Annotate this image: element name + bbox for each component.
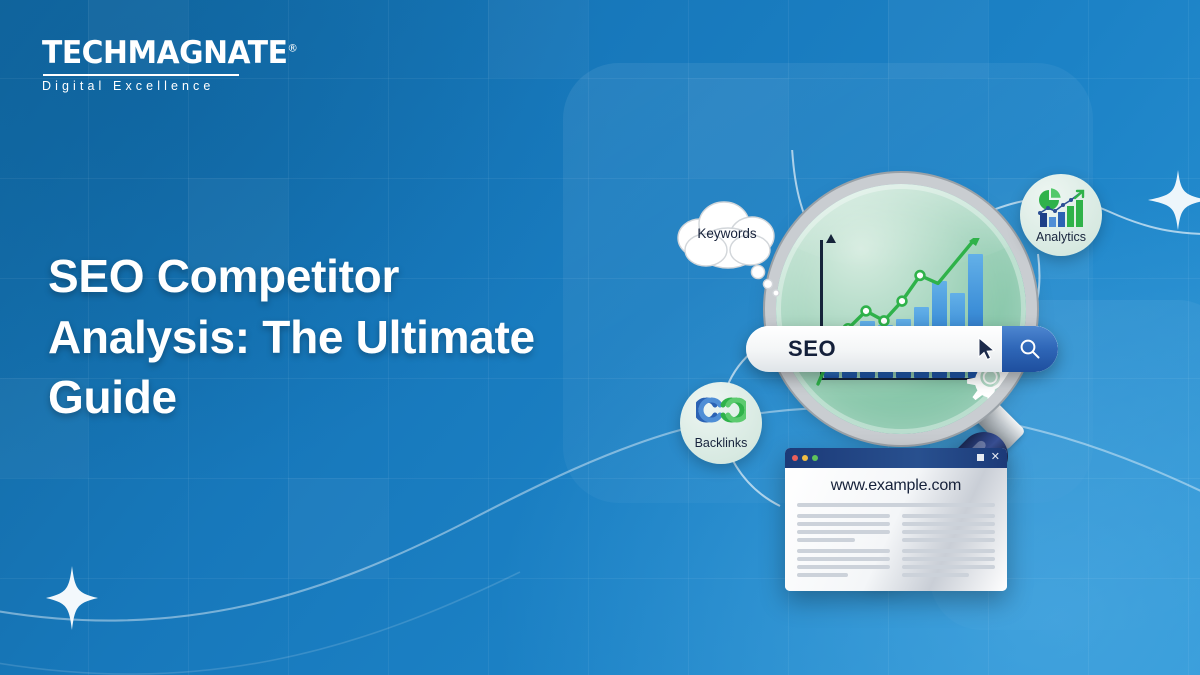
hero-illustration: ✕ www.example.com xyxy=(640,150,1200,630)
keywords-label: Keywords xyxy=(672,226,782,241)
skeleton-column-right xyxy=(902,514,995,581)
brand-name: TECHMAGNATE® xyxy=(42,38,298,69)
mouse-pointer-icon xyxy=(978,337,996,361)
backlinks-badge[interactable]: Backlinks xyxy=(680,382,762,464)
close-dot-icon[interactable] xyxy=(792,455,798,461)
magnifier-icon xyxy=(1018,337,1042,361)
maximize-dot-icon[interactable] xyxy=(812,455,818,461)
minimize-dot-icon[interactable] xyxy=(802,455,808,461)
brand-tagline: Digital Excellence xyxy=(42,79,309,93)
skeleton-columns xyxy=(797,514,995,581)
keywords-thought-bubble: Keywords xyxy=(672,200,782,272)
chart-marker xyxy=(880,316,889,325)
browser-content: www.example.com xyxy=(785,468,1007,591)
skeleton-line xyxy=(797,503,995,507)
analytics-label: Analytics xyxy=(1036,230,1086,244)
browser-titlebar: ✕ xyxy=(785,448,1007,468)
skeleton-column-left xyxy=(797,514,890,581)
backlinks-label: Backlinks xyxy=(695,436,748,450)
analytics-badge[interactable]: Analytics xyxy=(1020,174,1102,256)
browser-url: www.example.com xyxy=(797,477,995,495)
chart-marker xyxy=(916,271,925,280)
chart-marker xyxy=(898,297,907,306)
minimize-icon[interactable] xyxy=(977,454,984,461)
close-icon[interactable]: ✕ xyxy=(991,453,1000,462)
browser-window-mock[interactable]: ✕ www.example.com xyxy=(785,448,1007,591)
chart-marker xyxy=(862,307,871,316)
logo-divider xyxy=(43,74,239,76)
page-title: SEO Competitor Analysis: The Ultimate Gu… xyxy=(48,246,608,428)
search-bar[interactable]: SEO xyxy=(746,326,1058,372)
traffic-light-dots xyxy=(792,455,818,461)
magnifier-lens xyxy=(776,184,1026,434)
search-input[interactable]: SEO xyxy=(788,336,836,362)
analytics-icon xyxy=(1035,187,1087,229)
window-controls[interactable]: ✕ xyxy=(977,453,1000,462)
chain-links-icon xyxy=(696,397,746,435)
sparkle-icon xyxy=(46,566,98,630)
registered-mark: ® xyxy=(287,42,298,55)
banner-canvas: TECHMAGNATE® Digital Excellence SEO Comp… xyxy=(0,0,1200,675)
brand-logo[interactable]: TECHMAGNATE® Digital Excellence xyxy=(42,38,309,93)
search-button[interactable] xyxy=(1002,326,1058,372)
